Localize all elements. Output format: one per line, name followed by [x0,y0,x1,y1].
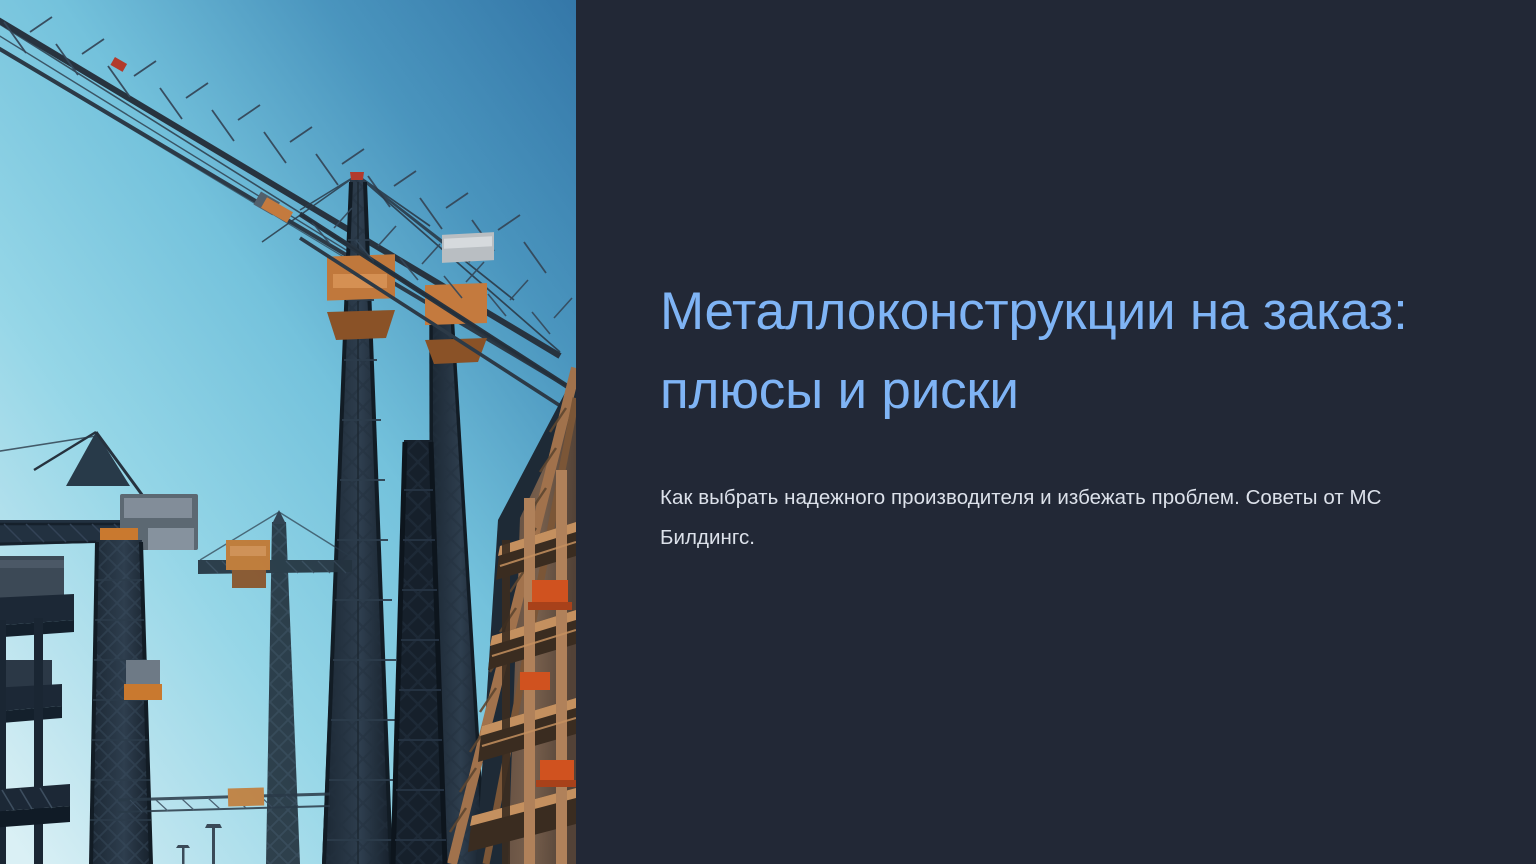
slide-subtitle: Как выбрать надежного производителя и из… [660,478,1430,558]
slide-title: Металлоконструкции на заказ: плюсы и рис… [660,272,1430,430]
construction-site-illustration [0,0,576,864]
slide-text-panel: Металлоконструкции на заказ: плюсы и рис… [576,0,1536,864]
presentation-slide: Металлоконструкции на заказ: плюсы и рис… [0,0,1536,864]
hero-photo [0,0,576,864]
